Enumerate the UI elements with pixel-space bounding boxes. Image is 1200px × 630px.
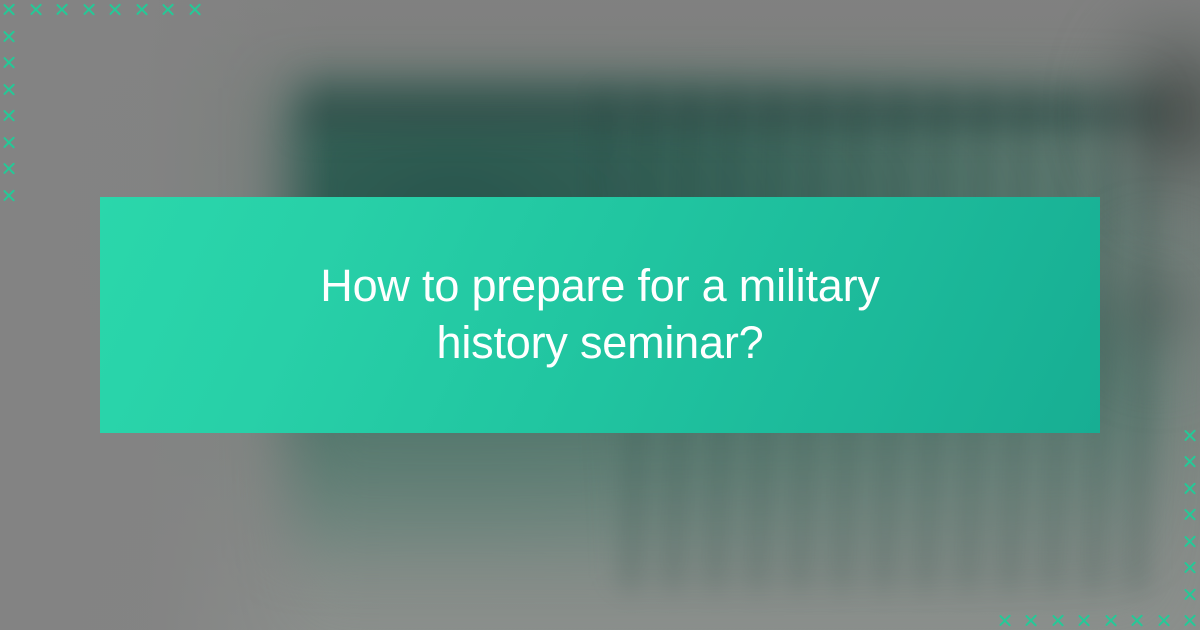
background-right-blob-lower (1090, 215, 1200, 395)
og-image-canvas: How to prepare for a military history se… (0, 0, 1200, 630)
title-banner: How to prepare for a military history se… (100, 197, 1100, 433)
page-title: How to prepare for a military history se… (250, 258, 950, 371)
